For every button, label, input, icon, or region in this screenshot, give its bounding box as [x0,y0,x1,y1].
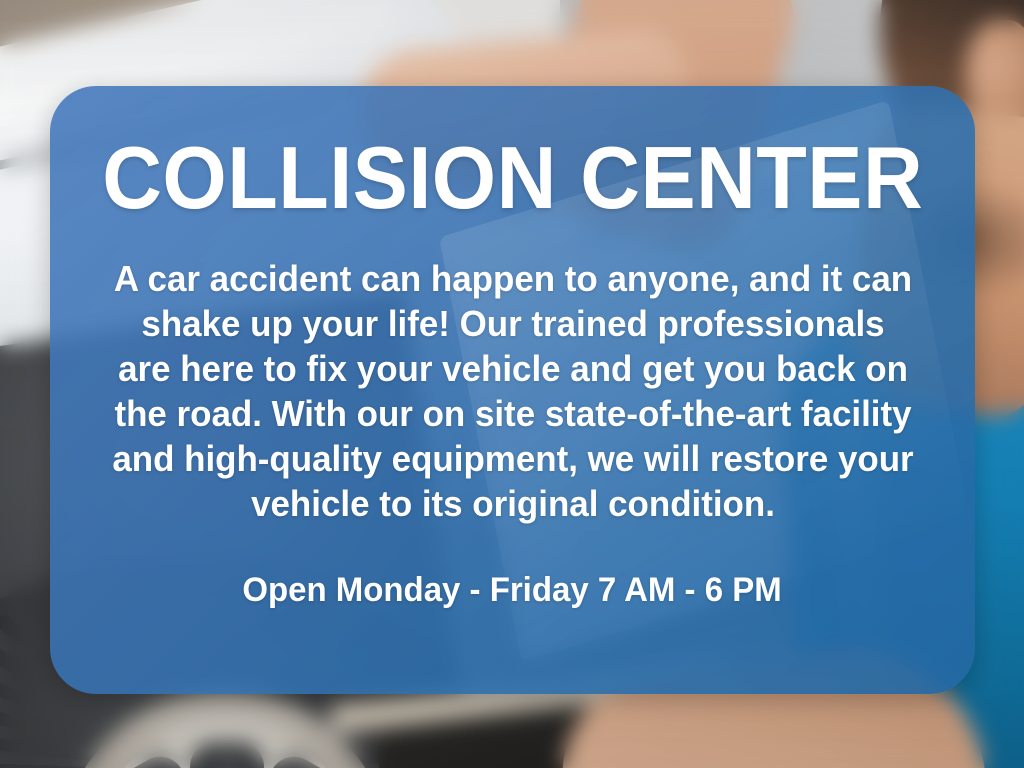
info-panel: COLLISION CENTER A car accident can happ… [50,86,975,694]
business-hours: Open Monday - Friday 7 AM - 6 PM [243,526,782,609]
promo-banner: COLLISION CENTER A car accident can happ… [0,0,1024,768]
page-title: COLLISION CENTER [102,86,923,222]
description-text: A car accident can happen to anyone, and… [110,222,915,526]
